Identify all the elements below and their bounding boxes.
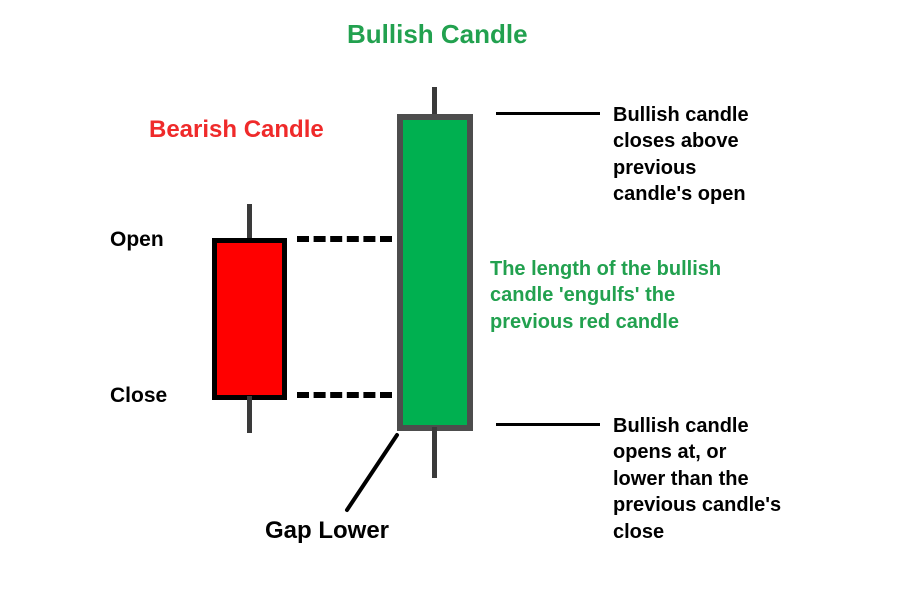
open-level-dashed-line-icon xyxy=(297,236,392,242)
candlestick-diagram-canvas: Bullish Candle Bearish Candle Open Close… xyxy=(0,0,919,596)
top-annotation-leader-line-icon xyxy=(496,112,600,115)
bullish-candle-lower-wick xyxy=(432,427,437,478)
annotation-close-above-previous-open: Bullish candle closes above previous can… xyxy=(613,102,903,208)
bearish-candle-title: Bearish Candle xyxy=(149,117,324,143)
close-level-dashed-line-icon xyxy=(297,392,392,398)
bullish-candle-body xyxy=(397,114,473,431)
annotation-open-at-or-lower-than-previous-close: Bullish candle opens at, or lower than t… xyxy=(613,413,913,545)
bearish-candle-body xyxy=(212,238,287,400)
gap-lower-label: Gap Lower xyxy=(265,517,389,545)
bullish-candle-title: Bullish Candle xyxy=(347,20,528,49)
close-price-label: Close xyxy=(110,384,167,407)
bottom-annotation-leader-line-icon xyxy=(496,423,600,426)
open-price-label: Open xyxy=(110,228,164,251)
bearish-candle-lower-wick xyxy=(247,396,252,433)
gap-lower-leader-line-icon xyxy=(335,425,410,520)
bearish-candle-upper-wick xyxy=(247,204,252,242)
annotation-engulfing-explanation: The length of the bullish candle 'engulf… xyxy=(490,256,790,335)
